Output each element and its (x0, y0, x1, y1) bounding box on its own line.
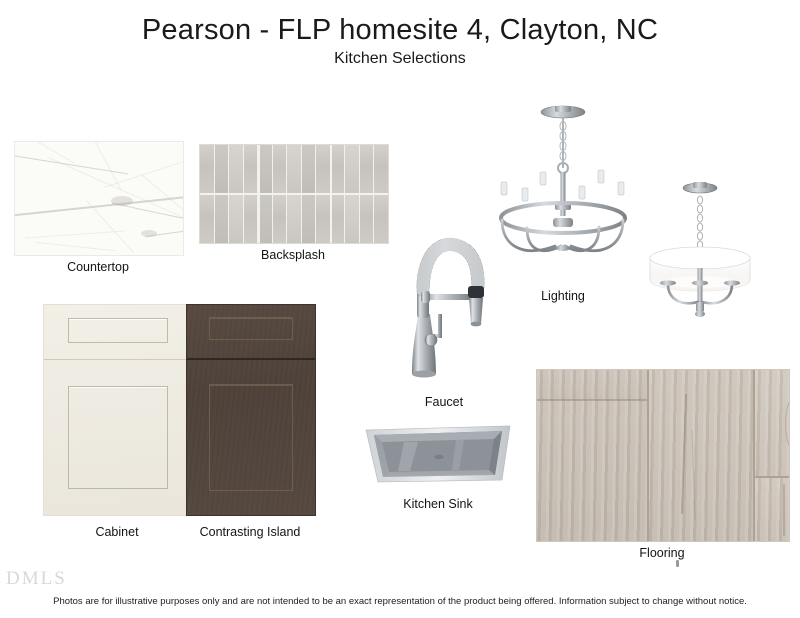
island-drawer-panel (209, 317, 293, 340)
disclaimer-text: Photos are for illustrative purposes onl… (0, 596, 800, 607)
chandelier-image (483, 96, 643, 286)
faucet-icon (390, 228, 498, 380)
kitchen-sink-label: Kitchen Sink (378, 497, 498, 511)
lighting-label: Lighting (513, 289, 613, 303)
cabinet-door-front (44, 362, 192, 515)
page-title: Pearson - FLP homesite 4, Clayton, NC (0, 14, 800, 47)
mark-dot (676, 560, 679, 567)
backsplash-image (199, 144, 389, 244)
faucet-image (390, 228, 498, 380)
backsplash-label: Backsplash (199, 248, 387, 262)
island-drawer-front (187, 305, 315, 360)
contrasting-island-image (186, 304, 316, 516)
page-subtitle: Kitchen Selections (0, 50, 800, 68)
cabinet-image (43, 304, 193, 516)
cabinet-drawer-panel (68, 318, 168, 343)
drum-pendant-icon (644, 172, 790, 324)
chandelier-icon (483, 96, 643, 286)
cabinet-drawer-front (44, 305, 192, 360)
countertop-label: Countertop (14, 260, 182, 274)
countertop-image (14, 141, 184, 256)
flooring-image (536, 369, 790, 542)
kitchen-sink-image (360, 420, 516, 492)
watermark: DMLS (6, 568, 67, 590)
island-door-front (187, 362, 315, 515)
cabinet-door-panel (68, 386, 168, 489)
pendant-light-image (644, 172, 790, 324)
cabinet-label: Cabinet (43, 525, 191, 539)
sink-icon (360, 420, 516, 492)
flooring-label: Flooring (536, 546, 788, 560)
faucet-label: Faucet (380, 395, 508, 409)
island-door-panel (209, 384, 293, 491)
selection-board: Pearson - FLP homesite 4, Clayton, NC Ki… (0, 0, 800, 618)
contrasting-island-label: Contrasting Island (176, 525, 324, 539)
